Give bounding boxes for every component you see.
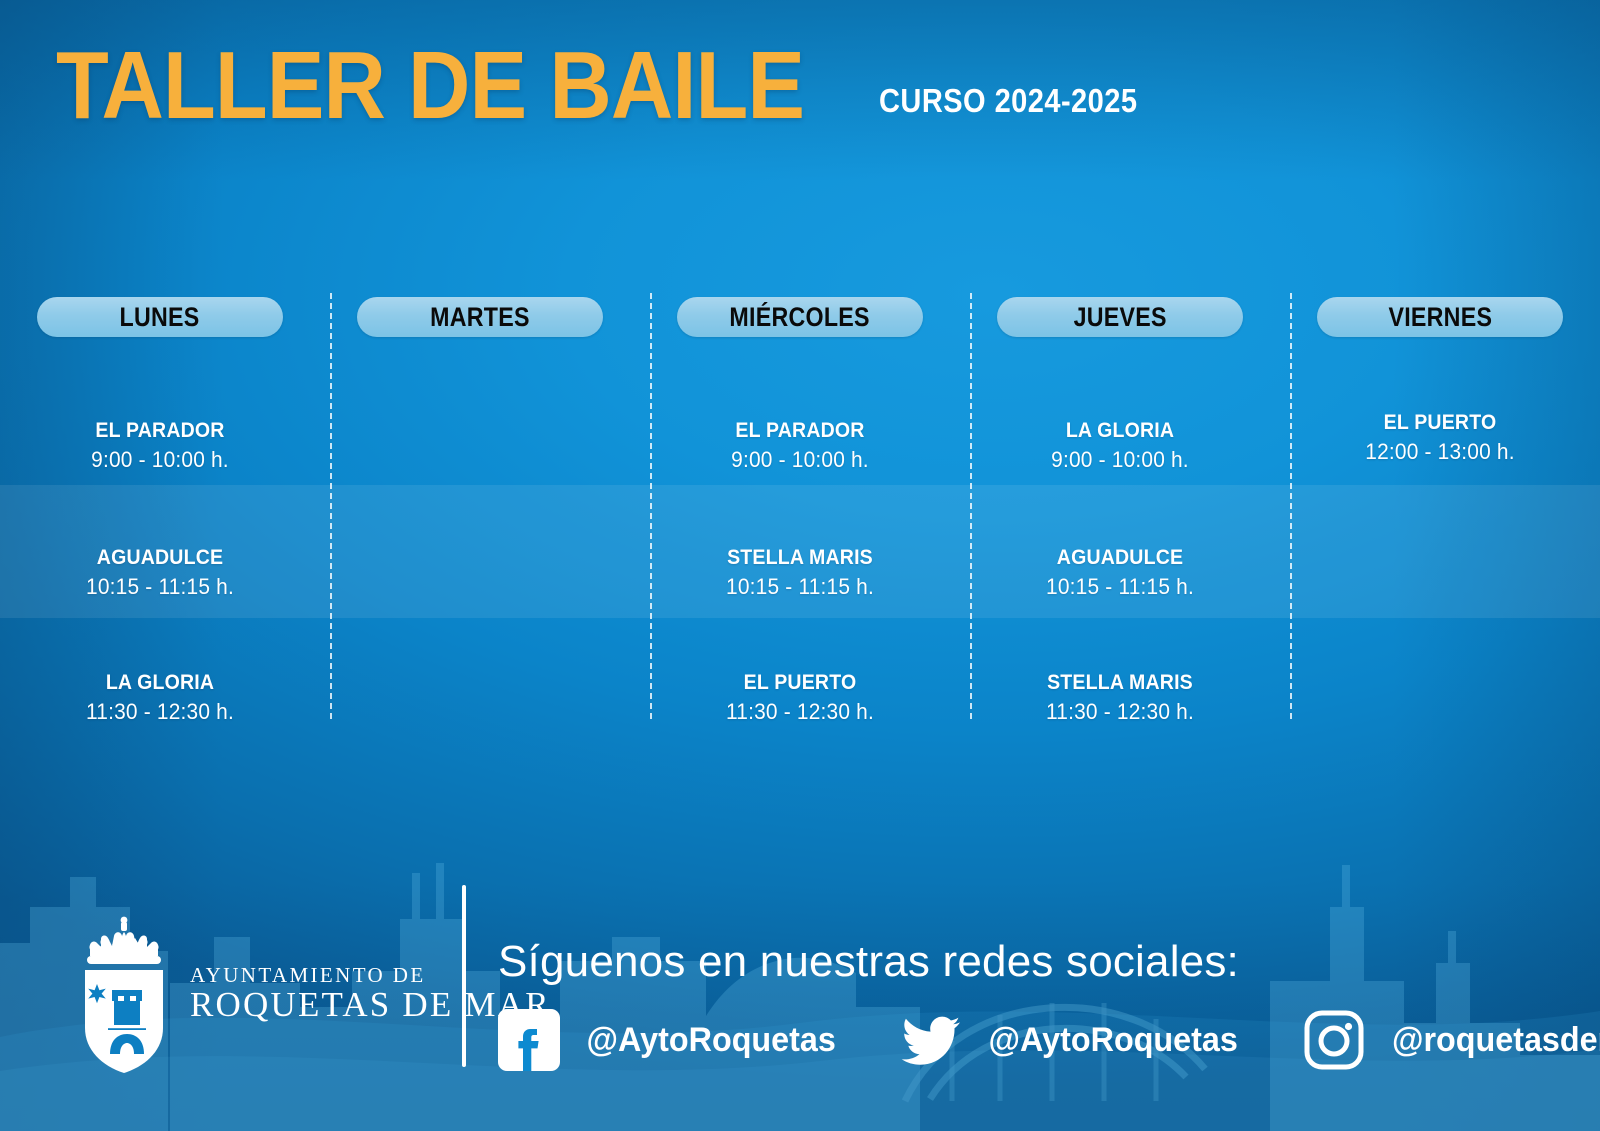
day-label: VIERNES	[1388, 302, 1492, 333]
cell-time: 11:30 - 12:30 h.	[8, 699, 312, 725]
social-link[interactable]: @roquetasdemar	[1303, 1009, 1600, 1071]
day-header-pill: LUNES	[37, 297, 283, 337]
cell-time: 10:15 - 11:15 h.	[968, 574, 1272, 600]
cell-place: STELLA MARIS	[971, 671, 1269, 695]
schedule-cell: EL PARADOR9:00 - 10:00 h.	[640, 419, 960, 473]
cell-time: 11:30 - 12:30 h.	[968, 699, 1272, 725]
cell-place: EL PUERTO	[651, 671, 949, 695]
footer-divider	[462, 885, 466, 1067]
page-title: TALLER DE BAILE	[56, 40, 804, 132]
cell-time: 9:00 - 10:00 h.	[968, 447, 1272, 473]
day-header-pill: MARTES	[357, 297, 603, 337]
schedule-table: LUNESEL PARADOR9:00 - 10:00 h.AGUADULCE1…	[0, 293, 1600, 723]
social-handle[interactable]: @AytoRoquetas	[989, 1021, 1238, 1060]
cell-place: LA GLORIA	[11, 671, 309, 695]
brand-block: Ayuntamiento de Roquetas de Mar	[72, 916, 551, 1076]
social-block: Síguenos en nuestras redes sociales: @Ay…	[498, 937, 1600, 1071]
cell-time: 9:00 - 10:00 h.	[648, 447, 952, 473]
social-handle[interactable]: @AytoRoquetas	[587, 1021, 836, 1060]
schedule-column-lunes: LUNESEL PARADOR9:00 - 10:00 h.AGUADULCE1…	[0, 293, 320, 723]
schedule-cell: AGUADULCE10:15 - 11:15 h.	[960, 546, 1280, 600]
schedule-cell: LA GLORIA11:30 - 12:30 h.	[0, 671, 320, 725]
day-label: JUEVES	[1073, 302, 1166, 333]
cell-place: EL PUERTO	[1291, 411, 1589, 435]
instagram-icon[interactable]	[1303, 1009, 1365, 1071]
cell-time: 9:00 - 10:00 h.	[8, 447, 312, 473]
day-label: MARTES	[430, 302, 530, 333]
course-subtitle: CURSO 2024-2025	[879, 82, 1137, 132]
facebook-icon[interactable]	[498, 1009, 560, 1071]
twitter-icon[interactable]	[900, 1009, 962, 1071]
schedule-column-jueves: JUEVESLA GLORIA9:00 - 10:00 h.AGUADULCE1…	[960, 293, 1280, 723]
cell-place: STELLA MARIS	[651, 546, 949, 570]
schedule-column-viernes: VIERNESEL PUERTO12:00 - 13:00 h.	[1280, 293, 1600, 723]
cell-time: 11:30 - 12:30 h.	[648, 699, 952, 725]
cell-place: EL PARADOR	[11, 419, 309, 443]
cell-time: 10:15 - 11:15 h.	[648, 574, 952, 600]
brand-text: Ayuntamiento de Roquetas de Mar	[190, 964, 551, 1028]
social-heading: Síguenos en nuestras redes sociales:	[498, 937, 1600, 987]
brand-line-1: Ayuntamiento de	[190, 964, 551, 986]
roquetas-coat-of-arms-icon	[72, 916, 176, 1076]
cell-place: AGUADULCE	[11, 546, 309, 570]
poster-footer: Ayuntamiento de Roquetas de Mar Síguenos…	[0, 831, 1600, 1131]
social-handle[interactable]: @roquetasdemar	[1392, 1021, 1600, 1060]
schedule-cell: STELLA MARIS11:30 - 12:30 h.	[960, 671, 1280, 725]
schedule-cell: EL PARADOR9:00 - 10:00 h.	[0, 419, 320, 473]
day-label: LUNES	[120, 302, 200, 333]
schedule-cell: AGUADULCE10:15 - 11:15 h.	[0, 546, 320, 600]
social-links-row: @AytoRoquetas@AytoRoquetas@roquetasdemar	[498, 1009, 1600, 1071]
schedule-cell: STELLA MARIS10:15 - 11:15 h.	[640, 546, 960, 600]
social-link[interactable]: @AytoRoquetas	[900, 1009, 1244, 1071]
poster-header: TALLER DE BAILE CURSO 2024-2025	[56, 40, 1173, 132]
schedule-grid: LUNESEL PARADOR9:00 - 10:00 h.AGUADULCE1…	[0, 293, 1600, 723]
day-header-pill: MIÉRCOLES	[677, 297, 923, 337]
schedule-cell: EL PUERTO11:30 - 12:30 h.	[640, 671, 960, 725]
day-label: MIÉRCOLES	[730, 302, 870, 333]
schedule-column-martes: MARTES	[320, 293, 640, 723]
day-header-pill: VIERNES	[1317, 297, 1563, 337]
social-link[interactable]: @AytoRoquetas	[498, 1009, 842, 1071]
cell-place: LA GLORIA	[971, 419, 1269, 443]
schedule-column-miércoles: MIÉRCOLESEL PARADOR9:00 - 10:00 h.STELLA…	[640, 293, 960, 723]
poster-root: TALLER DE BAILE CURSO 2024-2025 LUNESEL …	[0, 0, 1600, 1131]
schedule-cell: EL PUERTO12:00 - 13:00 h.	[1280, 411, 1600, 465]
cell-place: AGUADULCE	[971, 546, 1269, 570]
schedule-cell: LA GLORIA9:00 - 10:00 h.	[960, 419, 1280, 473]
brand-line-2: Roquetas de Mar	[190, 987, 551, 1024]
day-header-pill: JUEVES	[997, 297, 1243, 337]
cell-time: 10:15 - 11:15 h.	[8, 574, 312, 600]
cell-time: 12:00 - 13:00 h.	[1288, 439, 1592, 465]
cell-place: EL PARADOR	[651, 419, 949, 443]
